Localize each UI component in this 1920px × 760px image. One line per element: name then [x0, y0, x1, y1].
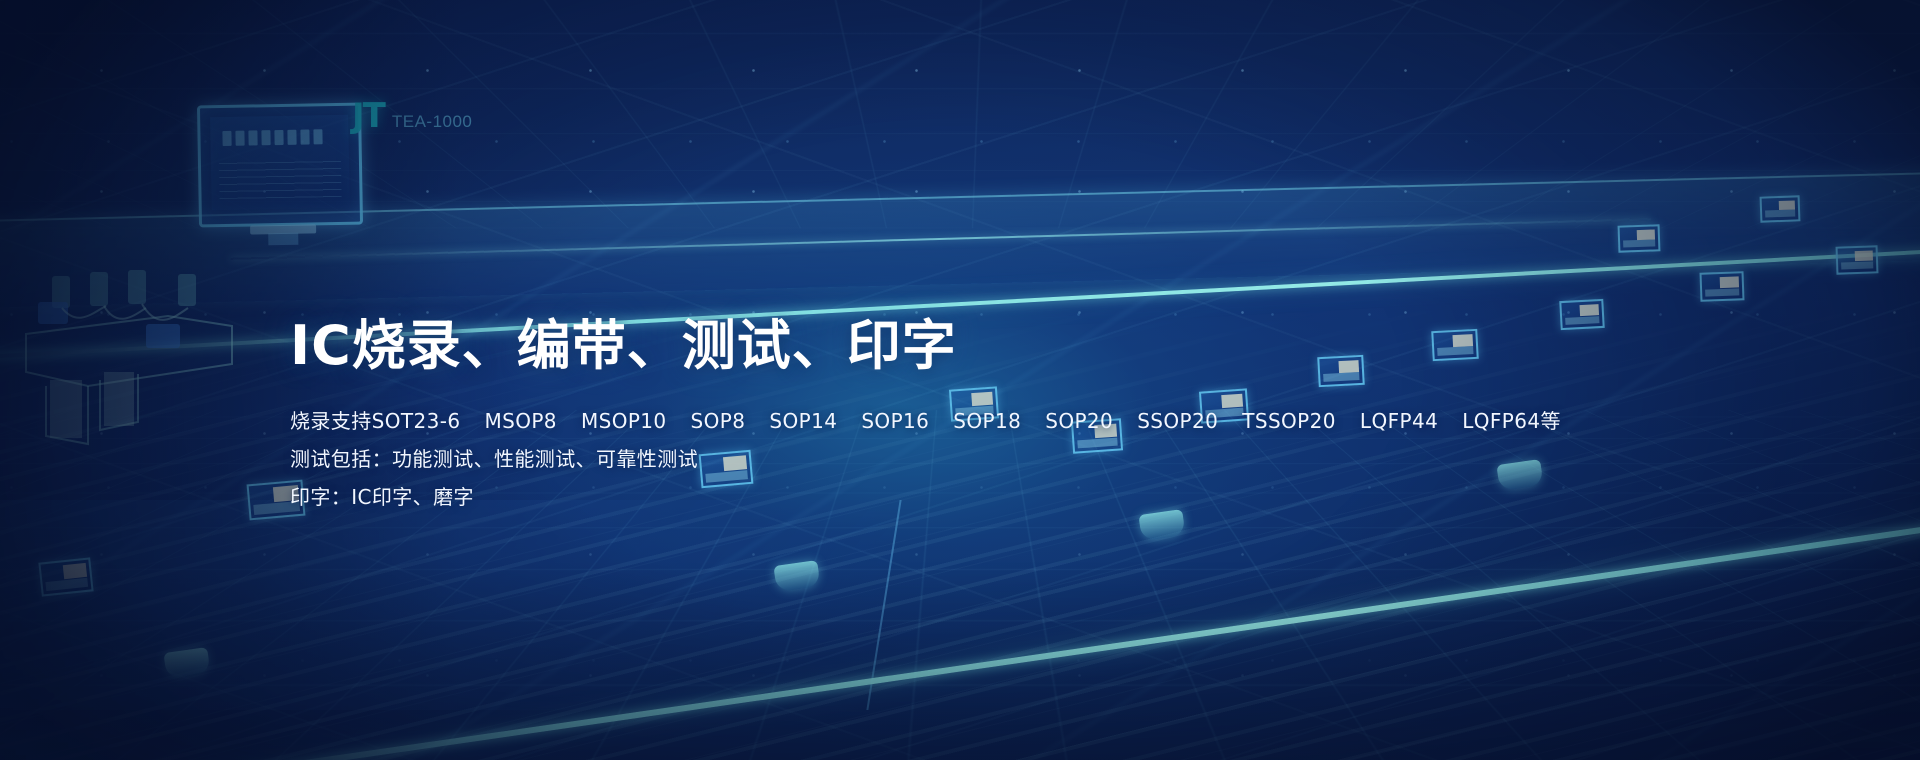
package-item: SOP18 — [953, 402, 1021, 440]
package-item: MSOP8 — [484, 402, 556, 440]
package-item: LQFP64 — [1462, 402, 1540, 440]
package-support-line: 烧录支持SOT23-6 MSOP8 MSOP10 SOP8 SOP14 SOP1… — [290, 402, 1590, 440]
package-item: MSOP10 — [581, 402, 667, 440]
bottom-shadow-overlay — [0, 562, 1920, 760]
package-support-lead: 烧录支持SOT23-6 — [290, 402, 460, 440]
package-item: SOP8 — [691, 402, 746, 440]
package-item: SOP20 — [1045, 402, 1113, 440]
package-item: LQFP44 — [1360, 402, 1438, 440]
promo-banner: JT TEA-1000 IC烧录、编带、测试、印字 烧录支持SOT23-6 MS… — [0, 0, 1920, 760]
banner-content: IC烧录、编带、测试、印字 烧录支持SOT23-6 MSOP8 MSOP10 S… — [290, 316, 1590, 516]
testing-scope-line: 测试包括：功能测试、性能测试、可靠性测试 — [290, 440, 1590, 478]
package-item: TSSOP20 — [1242, 402, 1336, 440]
package-item: SSOP20 — [1137, 402, 1218, 440]
package-item: SOP14 — [769, 402, 837, 440]
package-support-tail: 等 — [1541, 402, 1561, 440]
marking-scope-line: 印字：IC印字、磨字 — [290, 478, 1590, 516]
package-item: SOP16 — [861, 402, 929, 440]
page-title: IC烧录、编带、测试、印字 — [290, 316, 1590, 376]
service-detail-list: 烧录支持SOT23-6 MSOP8 MSOP10 SOP8 SOP14 SOP1… — [290, 402, 1590, 516]
